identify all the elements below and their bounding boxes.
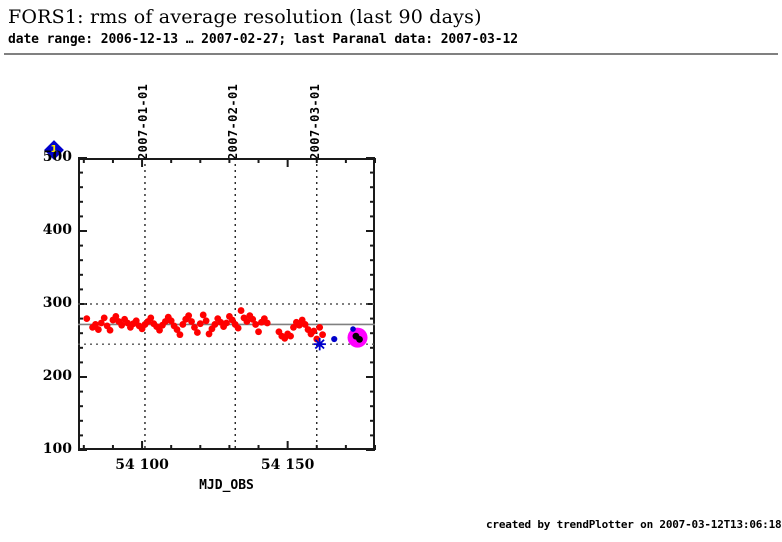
data-point xyxy=(188,318,195,325)
data-point xyxy=(264,320,271,327)
data-point xyxy=(194,329,201,336)
data-point xyxy=(238,307,245,314)
plot-canvas xyxy=(78,158,375,450)
data-point xyxy=(83,315,90,322)
data-point xyxy=(252,321,259,328)
data-point xyxy=(118,322,125,329)
data-point xyxy=(287,333,294,340)
data-point xyxy=(177,331,184,338)
data-point xyxy=(107,327,114,334)
page-subtitle: date range: 2006-12-13 … 2007-02-27; las… xyxy=(8,32,518,47)
y-tick-label: 300 xyxy=(24,295,72,311)
trend-plot-page: FORS1: rms of average resolution (last 9… xyxy=(0,0,782,542)
x-axis-title: MJD_OBS xyxy=(127,478,327,493)
date-gridline-label: 2007-02-01 xyxy=(226,84,240,160)
page-title: FORS1: rms of average resolution (last 9… xyxy=(8,6,482,28)
data-point xyxy=(147,314,154,321)
data-point xyxy=(95,326,102,333)
data-point xyxy=(197,320,204,327)
flagged-point-star xyxy=(313,338,325,350)
footer-credit: created by trendPlotter on 2007-03-12T13… xyxy=(486,518,781,531)
data-point xyxy=(316,324,323,331)
plot-area xyxy=(78,158,375,450)
data-point xyxy=(255,328,262,335)
recent-data-point xyxy=(331,336,337,342)
data-point xyxy=(185,312,192,319)
y-tick-label: 200 xyxy=(24,368,72,384)
data-point xyxy=(203,317,210,324)
date-gridline-label: 2007-03-01 xyxy=(308,84,322,160)
data-point xyxy=(200,312,207,319)
data-point xyxy=(243,318,250,325)
x-tick-label: 54 150 xyxy=(248,457,328,473)
date-gridline-label: 2007-01-01 xyxy=(136,84,150,160)
data-point xyxy=(310,328,317,335)
y-tick-label: 400 xyxy=(24,222,72,238)
data-point xyxy=(223,320,230,327)
data-point xyxy=(211,321,218,328)
last-point-core xyxy=(356,336,363,343)
y-tick-label: 100 xyxy=(24,441,72,457)
x-tick-label: 54 100 xyxy=(102,457,182,473)
data-point xyxy=(319,331,326,338)
last-point-companion xyxy=(350,326,356,332)
header-divider xyxy=(4,53,778,55)
data-point xyxy=(101,314,108,321)
data-point xyxy=(235,325,242,332)
y-tick-label: 500 xyxy=(24,149,72,165)
